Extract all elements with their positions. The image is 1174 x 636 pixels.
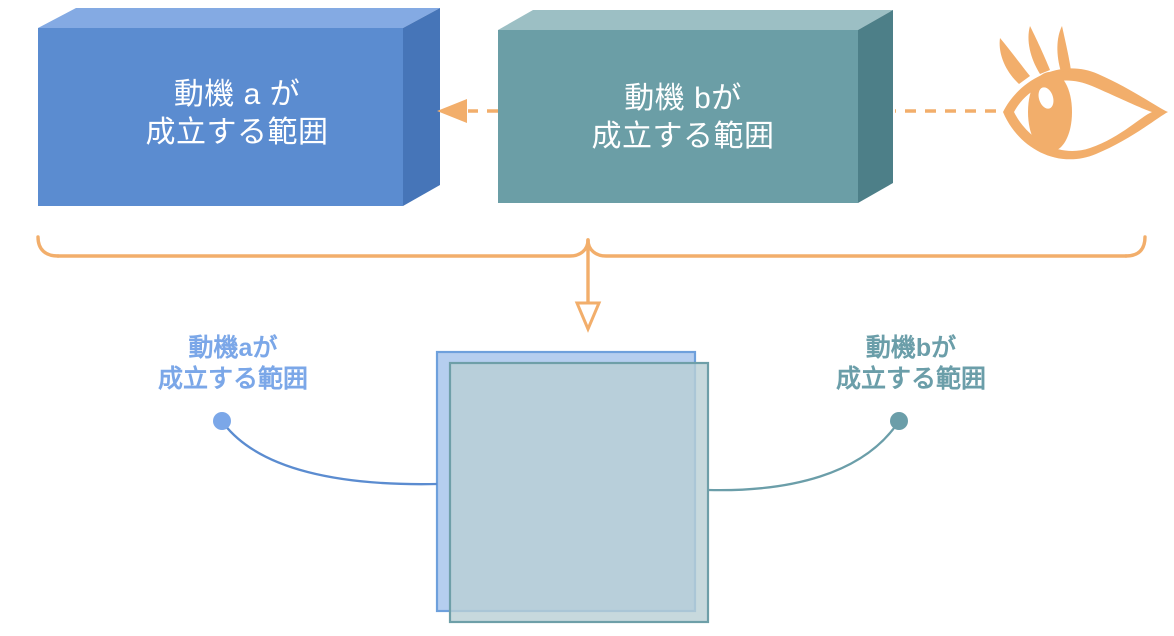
box-a-label: 動機 a が 成立する範囲	[42, 76, 432, 152]
eye-lash-2	[1028, 26, 1050, 74]
box-a-top-face	[38, 8, 440, 28]
connector-b-curve	[708, 424, 897, 490]
brace-left-hook	[38, 237, 58, 256]
brace-right-run	[588, 240, 1126, 256]
connector-a-curve	[224, 424, 437, 484]
eye-lash-1	[1000, 38, 1030, 84]
callout-label-a: 動機aが 成立する範囲	[118, 333, 348, 394]
overlap-squares	[437, 352, 708, 622]
callout-label-b: 動機bが 成立する範囲	[796, 333, 1026, 394]
brace-and-arrow	[38, 237, 1145, 329]
eye-iris	[1028, 72, 1072, 152]
brace-arrow-head-down	[577, 303, 599, 329]
square-b-teal	[450, 363, 708, 622]
brace-right-hook	[1126, 237, 1145, 256]
eye-outline-shape	[1003, 68, 1168, 159]
connector-a-dot	[213, 412, 231, 430]
box-b-top-face	[498, 10, 893, 30]
box-b-label: 動機 bが 成立する範囲	[500, 80, 866, 156]
brace-left-run	[58, 240, 588, 256]
eye-icon	[1000, 26, 1168, 159]
diagram-canvas: 動機 a が 成立する範囲 動機 bが 成立する範囲 動機aが 成立する範囲 動…	[0, 0, 1174, 636]
eye-lash-3	[1057, 26, 1071, 72]
arrow-head-left	[437, 99, 467, 123]
arrow-box-b-to-box-a	[437, 99, 498, 123]
connector-b-dot	[890, 412, 908, 430]
